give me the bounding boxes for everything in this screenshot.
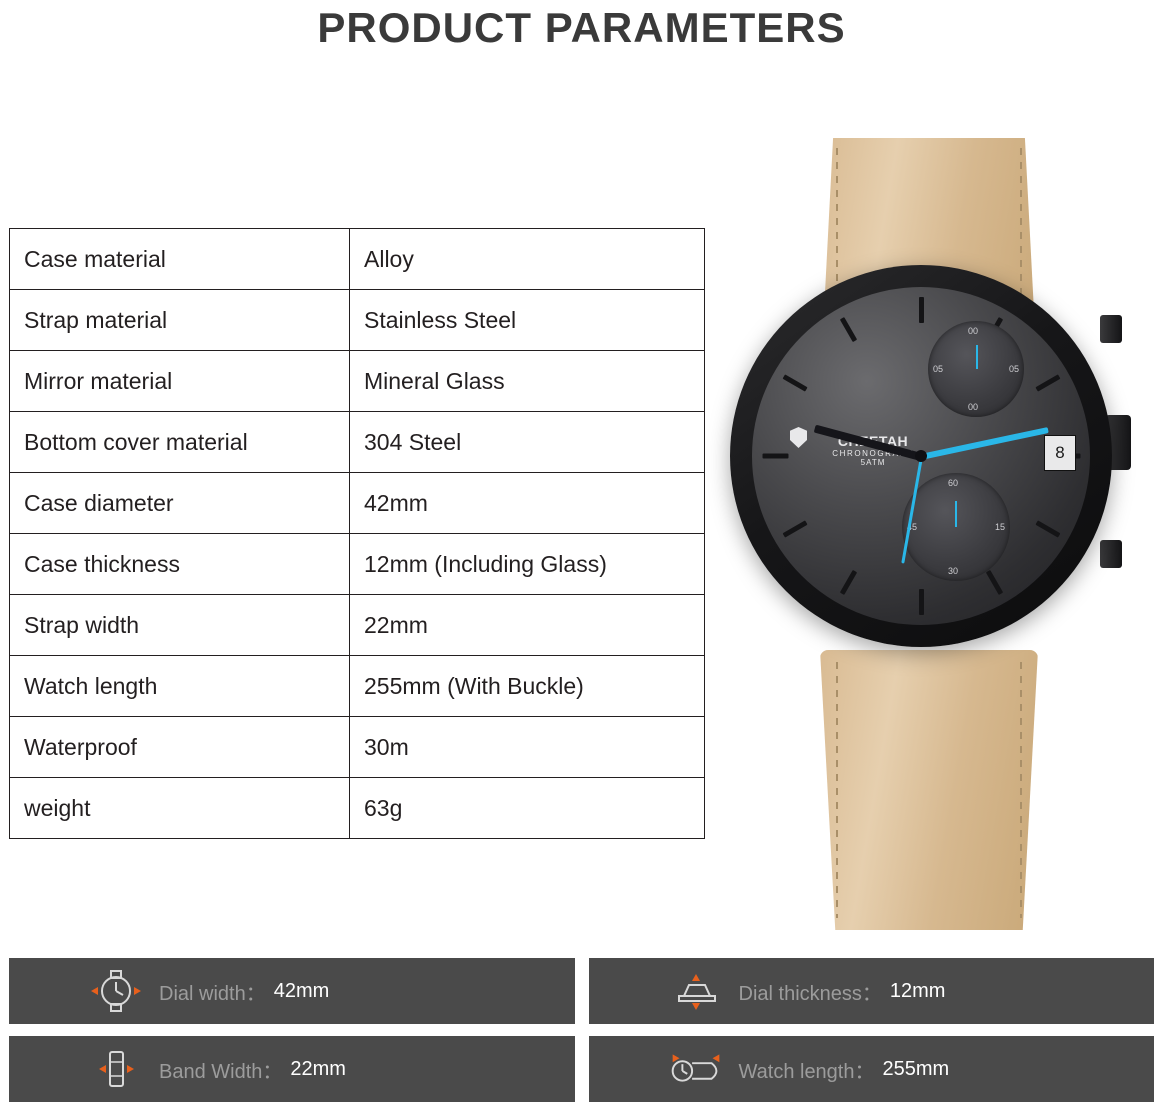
panel-dial-width: Dial width： 42mm [9, 958, 575, 1024]
panel-dial-thickness: Dial thickness： 12mm [589, 958, 1155, 1024]
cheetah-shield-icon [790, 427, 807, 448]
panel-watch-length: Watch length： 255mm [589, 1036, 1155, 1102]
subdial-label: 05 [1009, 364, 1019, 374]
stitch-line [836, 662, 838, 918]
panel-label: Watch length： [739, 1055, 875, 1084]
product-parameters-table: Case material Alloy Strap material Stain… [9, 228, 705, 839]
spec-value: Alloy [350, 229, 705, 290]
spec-key: Strap width [10, 595, 350, 656]
subdial-label: 15 [995, 522, 1005, 532]
spec-value: 304 Steel [350, 412, 705, 473]
minute-hand [920, 427, 1048, 460]
spec-key: Strap material [10, 290, 350, 351]
table-row: Case thickness 12mm (Including Glass) [10, 534, 705, 595]
table-row: Mirror material Mineral Glass [10, 351, 705, 412]
subdial-label: 60 [948, 478, 958, 488]
watch-case: 00 05 05 00 60 15 30 45 8 CHEETAH CHRONO… [730, 265, 1112, 647]
spec-key: Bottom cover material [10, 412, 350, 473]
band-width-icon [81, 1036, 151, 1102]
table-row: weight 63g [10, 778, 705, 839]
hour-index [1035, 520, 1060, 537]
panel-value: 22mm [290, 1058, 346, 1081]
spec-key: weight [10, 778, 350, 839]
panel-label: Dial width： [159, 977, 266, 1006]
subdial-hand [976, 345, 978, 369]
hour-index [919, 297, 924, 323]
spec-key: Case thickness [10, 534, 350, 595]
table-row: Strap width 22mm [10, 595, 705, 656]
watch-dial: 00 05 05 00 60 15 30 45 8 CHEETAH CHRONO… [752, 287, 1090, 625]
subdial-label: 00 [968, 326, 978, 336]
subdial-bottom: 60 15 30 45 [902, 473, 1010, 581]
hour-index [919, 589, 924, 615]
panel-band-width: Band Width： 22mm [9, 1036, 575, 1102]
spec-value: 12mm (Including Glass) [350, 534, 705, 595]
spec-key: Case diameter [10, 473, 350, 534]
hour-index [839, 570, 856, 595]
hour-index [782, 520, 807, 537]
spec-value: 22mm [350, 595, 705, 656]
table-body: Case material Alloy Strap material Stain… [10, 229, 705, 839]
spec-value: 42mm [350, 473, 705, 534]
hour-index [782, 374, 807, 391]
hour-index [839, 317, 856, 342]
spec-value: 255mm (With Buckle) [350, 656, 705, 717]
spec-key: Mirror material [10, 351, 350, 412]
hour-index [1035, 374, 1060, 391]
table-row: Bottom cover material 304 Steel [10, 412, 705, 473]
watch-pusher-top-icon [1100, 315, 1122, 343]
spec-key: Waterproof [10, 717, 350, 778]
table-row: Strap material Stainless Steel [10, 290, 705, 351]
panel-value: 255mm [883, 1058, 950, 1081]
watch-product-image: 00 05 05 00 60 15 30 45 8 CHEETAH CHRONO… [700, 110, 1155, 930]
watch-length-icon [661, 1036, 731, 1102]
table-row: Watch length 255mm (With Buckle) [10, 656, 705, 717]
table-row: Case diameter 42mm [10, 473, 705, 534]
spec-value: 30m [350, 717, 705, 778]
page-title: PRODUCT PARAMETERS [0, 4, 1163, 52]
spec-value: 63g [350, 778, 705, 839]
dial-thickness-icon [661, 958, 731, 1024]
subdial-hand [955, 501, 957, 527]
subdial-top: 00 05 05 00 [928, 321, 1024, 417]
table-row: Case material Alloy [10, 229, 705, 290]
spec-value: Mineral Glass [350, 351, 705, 412]
panel-value: 12mm [890, 980, 946, 1003]
watch-pusher-bottom-icon [1100, 540, 1122, 568]
hand-pivot [915, 450, 927, 462]
measurement-panels: Dial width： 42mm Dial thickness： 12mm Ba… [9, 958, 1154, 1102]
subdial-label: 05 [933, 364, 943, 374]
subdial-label: 00 [968, 402, 978, 412]
stitch-line [1020, 662, 1022, 918]
panel-label: Dial thickness： [739, 977, 882, 1006]
panel-value: 42mm [274, 980, 330, 1003]
subdial-label: 30 [948, 566, 958, 576]
hour-index [762, 454, 788, 459]
spec-value: Stainless Steel [350, 290, 705, 351]
dial-width-icon [81, 958, 151, 1024]
date-window: 8 [1044, 435, 1076, 471]
panel-label: Band Width： [159, 1055, 282, 1084]
spec-key: Case material [10, 229, 350, 290]
leather-strap-bottom [820, 650, 1038, 930]
table-row: Waterproof 30m [10, 717, 705, 778]
hour-index [985, 570, 1002, 595]
spec-key: Watch length [10, 656, 350, 717]
